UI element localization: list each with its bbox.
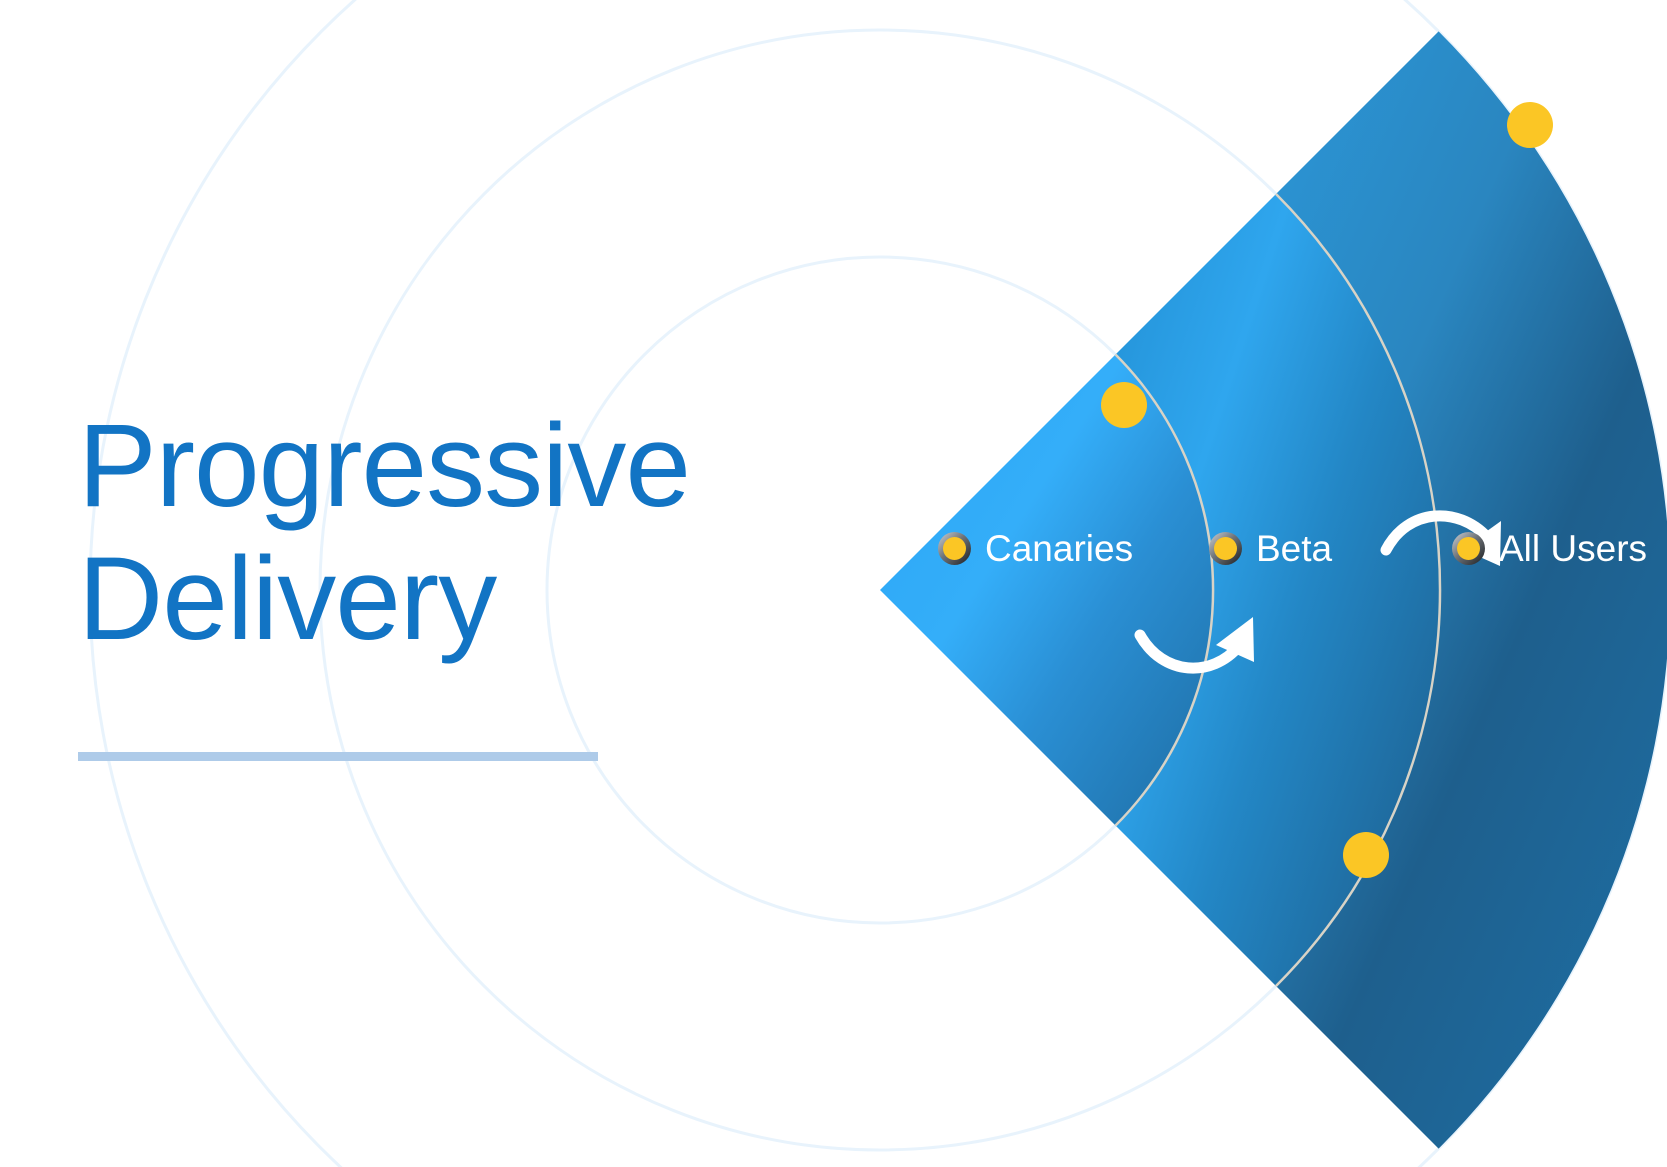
- stage-label-canaries[interactable]: Canaries: [938, 526, 1133, 570]
- marker-dot-top: [1507, 102, 1553, 148]
- marker-dot-mid: [1101, 382, 1147, 428]
- yellow-dot-icon: [1209, 532, 1242, 565]
- stage-label-beta[interactable]: Beta: [1209, 526, 1332, 570]
- title-underline-rule: [78, 752, 598, 761]
- page-title: Progressive Delivery: [78, 400, 698, 667]
- stage-label-canaries-text: Canaries: [985, 530, 1133, 567]
- yellow-dot-icon: [938, 532, 971, 565]
- band-canaries: [880, 355, 1213, 826]
- stage-label-all-users[interactable]: All Users: [1452, 526, 1647, 570]
- marker-dot-bottom: [1343, 832, 1389, 878]
- title-text: Progressive Delivery: [78, 400, 698, 667]
- stage-label-all-users-text: All Users: [1499, 530, 1647, 567]
- slide-canvas: Progressive Delivery Canaries Beta All U…: [0, 0, 1667, 1167]
- stage-label-beta-text: Beta: [1256, 530, 1332, 567]
- yellow-dot-icon: [1452, 532, 1485, 565]
